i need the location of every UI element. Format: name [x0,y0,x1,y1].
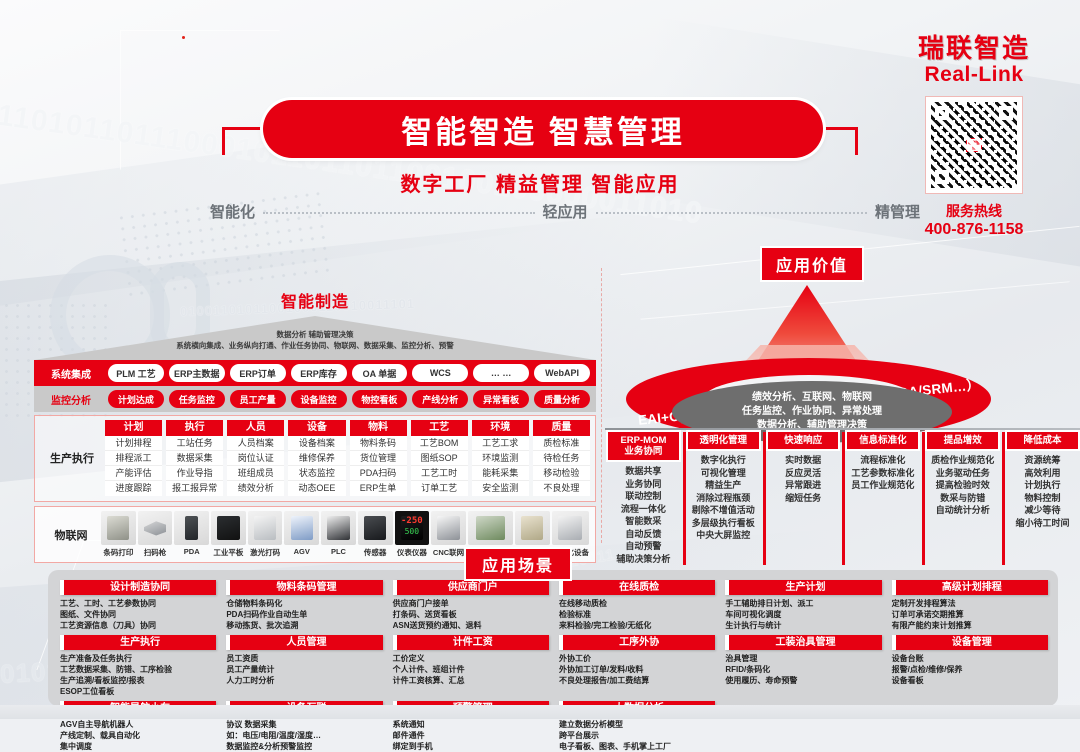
scenario-card-body: 建立数据分析模型跨平台展示电子看板、图表、手机掌上工厂 [559,719,715,752]
iot-device-9: CNC联网 [431,511,466,558]
value-column-head[interactable]: 提品增效 [927,432,998,449]
scenario-card-title: 生产计划 [725,580,881,595]
scenario-card-7[interactable]: 人员管理员工资质员工产量统计人力工时分析 [226,635,382,697]
device-label: 仪表仪器 [397,547,427,558]
value-disc-line: 绩效分析、互联网、物联网 [742,391,882,405]
axis-line-1 [263,212,534,214]
value-disc-lines: 绩效分析、互联网、物联网任务监控、作业协同、异常处理数据分析、辅助管理决策 [742,391,882,433]
value-column-0: ERP-MOM业务协同数据共享业务协同联动控制流程一体化智能数采自动反馈自动预警… [606,432,679,565]
system-chip-5[interactable]: WCS [412,364,468,382]
hero-wing-corner-left [222,127,225,155]
scenario-card-9[interactable]: 工序外协外协工价外协加工订单/发料/收料不良处理报告/加工费结算 [559,635,715,697]
scenario-card-11[interactable]: 设备管理设备台账报警/点检/维修/保养设备看板 [892,635,1048,697]
iot-device-0: 条码打印 [101,511,136,558]
maturity-axis: 智能化 轻应用 精管理 [210,200,920,222]
exec-cell[interactable]: 作业导指 [166,466,223,481]
qr-center-label: 瑞联智造 [967,140,981,150]
scenario-item: RFID/条码化 [725,664,881,675]
scenario-item: 工价定义 [393,653,549,664]
monitoring-chip-6[interactable]: 异常看板 [473,390,529,408]
exec-cell[interactable]: 能耗采集 [472,466,529,481]
value-item: 数采与防错 [927,492,998,505]
scenario-item: 图纸、文件协同 [60,609,216,620]
value-column-body: 质检作业规范化业务驱动任务提高检验时效数采与防错自动统计分析 [927,454,998,517]
scenario-item: 有限产能约束计划推算 [892,620,1048,631]
pyramid-line-1: 数据分析 辅助管理决策 [34,329,596,340]
scenario-item: 建立数据分析模型 [559,719,715,730]
scenario-item: 电子看板、图表、手机掌上工厂 [559,741,715,752]
scenario-item: 检验标准 [559,609,715,620]
scenario-item: 人力工时分析 [226,675,382,686]
system-chip-7[interactable]: WebAPI [534,364,590,382]
scenario-item: 工艺资源信息（刀具）协同 [60,620,216,631]
scenario-item: 个人计件、班组计件 [393,664,549,675]
scenario-card-body: 在线移动质检检验标准来料检验/完工检验/无纸化 [559,598,715,631]
device-label: 条码打印 [103,547,133,558]
device-label: CNC联网 [433,547,464,558]
scenario-item: ASN送货预约通知、退料 [393,620,549,631]
value-column-head[interactable]: ERP-MOM业务协同 [608,432,679,460]
system-chip-2[interactable]: ERP订单 [230,364,286,382]
value-item: 业务驱动任务 [927,467,998,480]
value-column-4: 提品增效质检作业规范化业务驱动任务提高检验时效数采与防错自动统计分析 [922,432,998,565]
scenario-card-body: 外协工价外协加工订单/发料/收料不良处理报告/加工费结算 [559,653,715,686]
device-photo-icon: -250500 [395,511,430,545]
axis-label-left: 智能化 [210,201,255,222]
monitoring-analysis-chips: 计划达成任务监控员工产量设备监控物控看板产线分析异常看板质量分析 [108,390,596,408]
value-column-2: 快速响应实时数据反应灵活异常跟进缩短任务 [763,432,839,565]
exec-cell[interactable]: 不良处理 [533,481,590,496]
value-item: 高效利用 [1007,467,1078,480]
value-item: 实时数据 [768,454,839,467]
value-item: 精益生产 [688,479,759,492]
value-item: 智能数采 [608,515,679,528]
exec-cell[interactable]: 进度跟踪 [105,481,162,496]
scenario-card-1[interactable]: 物料条码管理仓储物料条码化PDA扫码作业自动生单移动拣货、批次追溯 [226,580,382,631]
value-item: 联动控制 [608,490,679,503]
device-label: AGV [294,547,310,556]
scenario-card-title: 计件工资 [393,635,549,650]
monitoring-analysis-label: 监控分析 [34,392,108,407]
value-column-5: 降低成本资源统筹高效利用计划执行物料控制减少等待缩小待工时间 [1002,432,1078,565]
exec-column-head: 环境 [472,420,529,436]
scenario-card-body: 仓储物料条码化PDA扫码作业自动生单移动拣货、批次追溯 [226,598,382,631]
scenario-card-title: 设备管理 [892,635,1048,650]
scenario-item: 绑定到手机 [393,741,549,752]
device-photo-icon [468,511,513,545]
hero-banner: 智能智造 智慧管理 [263,100,823,158]
exec-cell[interactable]: 设备档案 [288,436,345,451]
monitoring-chip-3[interactable]: 设备监控 [291,390,347,408]
exec-cell[interactable]: 工艺工求 [472,436,529,451]
scenario-card-title: 在线质检 [559,580,715,595]
iot-device-6: PLC [321,511,356,558]
scenario-card-body: 协议 数据采集如：电压/电阻/温度/湿度…数据监控&分析预警监控 [226,719,382,752]
scenario-card-body: 治具管理RFID/条码化使用履历、寿命预警 [725,653,881,686]
value-column-body: 数字化执行可视化管理精益生产消除过程瓶颈剔除不增值活动多层级执行看板中央大屏监控 [688,454,759,542]
scenario-card-title: 供应商门户 [393,580,549,595]
exec-column-0: 计划计划排程排程派工产能评估进度跟踪 [105,420,162,496]
exec-column-head: 物料 [350,420,407,436]
application-scenarios-panel: 设计制造协同工艺、工时、工艺参数协同图纸、文件协同工艺资源信息（刀具）协同物料条… [48,570,1058,706]
value-item: 数字化执行 [688,454,759,467]
exec-cell[interactable]: 图纸SOP [411,451,468,466]
scenario-card-body: 定制开发排程算法订单可承诺交期推算有限产能约束计划推算 [892,598,1048,631]
value-item: 提高检验时效 [927,479,998,492]
scenario-item: 供应商门户接单 [393,598,549,609]
exec-cell[interactable]: 质检标准 [533,436,590,451]
application-value-title: 应用价值 [762,248,862,280]
scenario-item: 计件工资核算、汇总 [393,675,549,686]
system-integration-label: 系统集成 [34,366,108,381]
scenario-card-0[interactable]: 设计制造协同工艺、工时、工艺参数协同图纸、文件协同工艺资源信息（刀具）协同 [60,580,216,631]
exec-column-7: 质量质检标准待检任务移动检验不良处理 [533,420,590,496]
production-execution-label: 生产执行 [39,420,105,496]
value-column-head[interactable]: 降低成本 [1007,432,1078,449]
value-column-3: 信息标准化流程标准化工艺参数标准化员工作业规范化 [842,432,918,565]
exec-cell[interactable]: 数据采集 [166,451,223,466]
scenario-item: 生产追溯/看板监控/报表 [60,675,216,686]
scenario-item: ESOP工位看板 [60,686,216,697]
device-photo-icon [552,511,590,545]
system-chip-6[interactable]: … … [473,364,529,382]
scenario-item: 设备看板 [892,675,1048,686]
monitoring-chip-2[interactable]: 员工产量 [230,390,286,408]
scenario-card-6[interactable]: 生产执行生产准备及任务执行工艺数据采集、防错、工序检验生产追溯/看板监控/报表E… [60,635,216,697]
scenario-item: 邮件通件 [393,730,549,741]
value-separator [605,428,1080,430]
device-label: 工业平板 [213,547,243,558]
scenario-card-title: 物料条码管理 [226,580,382,595]
brand-name-en: Real-Link [882,63,1066,87]
exec-cell[interactable]: 移动检验 [533,466,590,481]
exec-cell[interactable]: 货位管理 [350,451,407,466]
exec-column-3: 设备设备档案维修保养状态监控动态OEE [288,420,345,496]
value-column-head-line: ERP-MOM [609,435,678,446]
exec-column-5: 工艺工艺BOM图纸SOP工艺工时订单工艺 [411,420,468,496]
value-item: 自动统计分析 [927,504,998,517]
exec-column-1: 执行工站任务数据采集作业导指报工报异常 [166,420,223,496]
value-item: 剔除不增值活动 [688,504,759,517]
device-label: 传感器 [364,547,387,558]
monitoring-chip-1[interactable]: 任务监控 [169,390,225,408]
scenario-item: AGV自主导航机器人 [60,719,216,730]
exec-cell[interactable]: 工艺工时 [411,466,468,481]
scenario-item: 打条码、送货看板 [393,609,549,620]
scenario-card-2[interactable]: 供应商门户供应商门户接单打条码、送货看板ASN送货预约通知、退料 [393,580,549,631]
scenario-item: 系统通知 [393,719,549,730]
production-execution-columns: 计划计划排程排程派工产能评估进度跟踪执行工站任务数据采集作业导指报工报异常人员人… [105,420,590,496]
scenario-item: 车间可视化调度 [725,609,881,620]
hero-wing-corner-right [855,127,858,155]
value-item: 质检作业规范化 [927,454,998,467]
system-chip-1[interactable]: ERP主数据 [169,364,225,382]
scenario-card-body: 系统通知邮件通件绑定到手机 [393,719,549,752]
iot-device-4: 激光打码 [248,511,283,558]
scenario-card-body: 设备台账报警/点检/维修/保养设备看板 [892,653,1048,686]
scenario-item: 不良处理报告/加工费结算 [559,675,715,686]
scenario-card-title: 生产执行 [60,635,216,650]
axis-label-mid: 轻应用 [543,201,588,222]
exec-column-6: 环境工艺工求环境监测能耗采集安全监测 [472,420,529,496]
device-photo-icon [515,511,550,545]
value-item: 可视化管理 [688,467,759,480]
value-column-1: 透明化管理数字化执行可视化管理精益生产消除过程瓶颈剔除不增值活动多层级执行看板中… [683,432,759,565]
value-disc-line: 任务监控、作业协同、异常处理 [742,405,882,419]
system-chip-3[interactable]: ERP库存 [291,364,347,382]
value-item: 辅助决策分析 [608,553,679,566]
bottom-strip [0,705,1080,719]
exec-cell[interactable]: 环境监测 [472,451,529,466]
value-item: 消除过程瓶颈 [688,492,759,505]
scenario-card-title: 工装治具管理 [725,635,881,650]
exec-cell[interactable]: 班组成员 [227,466,284,481]
scenario-item: 外协加工订单/发料/收料 [559,664,715,675]
device-photo-icon [284,511,319,545]
scenario-item: 外协工价 [559,653,715,664]
scenario-item: 集中调度 [60,741,216,752]
exec-cell[interactable]: 计划排程 [105,436,162,451]
scenario-card-body: 员工资质员工产量统计人力工时分析 [226,653,382,686]
exec-column-head: 执行 [166,420,223,436]
scenario-item: 治具管理 [725,653,881,664]
device-label: PLC [331,547,346,556]
pyramid-line-2: 系统横向集成、业务纵向打通、作业任务协同、物联网、数据采集、监控分析、预警 [34,340,596,351]
scenario-item: 员工产量统计 [226,664,382,675]
value-column-body: 资源统筹高效利用计划执行物料控制减少等待缩小待工时间 [1007,454,1078,529]
scenario-item: 定制开发排程算法 [892,598,1048,609]
scenario-card-title: 设计制造协同 [60,580,216,595]
value-item: 自动预警 [608,540,679,553]
value-item: 资源统筹 [1007,454,1078,467]
exec-cell[interactable]: 产能评估 [105,466,162,481]
scenario-card-body: 手工辅助排日计划、派工车间可视化调度生计执行与统计 [725,598,881,631]
meter-bottom-reading: 500 [395,527,430,536]
scenario-card-title: 高级计划排程 [892,580,1048,595]
value-column-head[interactable]: 透明化管理 [688,432,759,449]
value-column-head-line: 信息标准化 [848,435,917,446]
scenario-card-5[interactable]: 高级计划排程定制开发排程算法订单可承诺交期推算有限产能约束计划推算 [892,580,1048,631]
value-item: 缩短任务 [768,492,839,505]
value-item: 流程一体化 [608,503,679,516]
device-label: 扫码枪 [144,547,167,558]
exec-cell[interactable]: 工艺BOM [411,436,468,451]
exec-cell[interactable]: 安全监测 [472,481,529,496]
value-item: 员工作业规范化 [847,479,918,492]
system-chip-4[interactable]: OA 单据 [352,364,408,382]
exec-cell[interactable]: 物料条码 [350,436,407,451]
system-integration-chips: PLM 工艺ERP主数据ERP订单ERP库存OA 单据WCS… …WebAPI [108,364,596,382]
scenario-item: 设备台账 [892,653,1048,664]
monitoring-chip-5[interactable]: 产线分析 [412,390,468,408]
hotline-number[interactable]: 400-876-1158 [882,221,1066,239]
scenario-card-body: 供应商门户接单打条码、送货看板ASN送货预约通知、退料 [393,598,549,631]
value-item: 减少等待 [1007,504,1078,517]
exec-cell[interactable]: 人员档案 [227,436,284,451]
value-column-head-line: 业务协同 [609,446,678,457]
pyramid-graphic: 数据分析 辅助管理决策 系统横向集成、业务纵向打通、作业任务协同、物联网、数据采… [34,316,596,360]
iot-device-2: PDA [174,511,209,558]
device-photo-icon [174,511,209,545]
value-columns: ERP-MOM业务协同数据共享业务协同联动控制流程一体化智能数采自动反馈自动预警… [606,432,1078,565]
exec-cell[interactable]: 维修保养 [288,451,345,466]
scenario-item: 报警/点检/维修/保养 [892,664,1048,675]
scenario-card-title: 人员管理 [226,635,382,650]
device-photo-icon [248,511,283,545]
production-execution-matrix: 生产执行 计划计划排程排程派工产能评估进度跟踪执行工站任务数据采集作业导指报工报… [34,415,596,502]
smart-manufacturing-title: 智能制造 [34,288,596,312]
exec-cell[interactable]: 报工报异常 [166,481,223,496]
device-label: PDA [184,547,200,556]
value-column-head-line: 透明化管理 [689,435,758,446]
value-item: 异常跟进 [768,479,839,492]
scenario-item: 工艺数据采集、防错、工序检验 [60,664,216,675]
qr-code[interactable]: 瑞联智造 [925,96,1023,194]
value-item: 流程标准化 [847,454,918,467]
value-column-body: 实时数据反应灵活异常跟进缩短任务 [768,454,839,504]
scenario-item: 产线定制、载具自动化 [60,730,216,741]
monitoring-chip-4[interactable]: 物控看板 [352,390,408,408]
value-item: 自动反馈 [608,528,679,541]
brand-name-cn: 瑞联智造 [882,28,1066,65]
exec-column-head: 工艺 [411,420,468,436]
iot-device-8: -250500仪表仪器 [395,511,430,558]
iot-label: 物联网 [41,527,101,543]
device-photo-icon [138,511,173,545]
exec-cell[interactable]: 状态监控 [288,466,345,481]
exec-cell[interactable]: 排程派工 [105,451,162,466]
system-integration-row: 系统集成 PLM 工艺ERP主数据ERP订单ERP库存OA 单据WCS… …We… [34,360,596,386]
exec-column-2: 人员人员档案岗位认证班组成员绩效分析 [227,420,284,496]
value-column-head-line: 降低成本 [1008,435,1077,446]
iot-device-1: 扫码枪 [138,511,173,558]
scenario-item: PDA扫码作业自动生单 [226,609,382,620]
exec-column-head: 质量 [533,420,590,436]
scenario-item: 订单可承诺交期推算 [892,609,1048,620]
exec-column-head: 计划 [105,420,162,436]
exec-column-head: 设备 [288,420,345,436]
exec-cell[interactable]: 订单工艺 [411,481,468,496]
value-column-head-line: 快速响应 [769,435,838,446]
value-item: 物料控制 [1007,492,1078,505]
scenario-card-4[interactable]: 生产计划手工辅助排日计划、派工车间可视化调度生计执行与统计 [725,580,881,631]
exec-cell[interactable]: 绩效分析 [227,481,284,496]
smart-manufacturing-panel: 智能制造 数据分析 辅助管理决策 系统横向集成、业务纵向打通、作业任务协同、物联… [34,288,596,563]
monitoring-chip-7[interactable]: 质量分析 [534,390,590,408]
exec-column-head: 人员 [227,420,284,436]
scenario-card-body: 工艺、工时、工艺参数协同图纸、文件协同工艺资源信息（刀具）协同 [60,598,216,631]
scenario-item: 如：电压/电阻/温度/湿度… [226,730,382,741]
device-photo-icon [211,511,246,545]
iot-device-7: 传感器 [358,511,393,558]
monitoring-analysis-row: 监控分析 计划达成任务监控员工产量设备监控物控看板产线分析异常看板质量分析 [34,386,596,412]
axis-line-2 [596,212,867,214]
scenario-item: 协议 数据采集 [226,719,382,730]
value-column-head[interactable]: 快速响应 [768,432,839,449]
value-item: 工艺参数标准化 [847,467,918,480]
value-item: 多层级执行看板 [688,517,759,530]
value-item: 业务协同 [608,478,679,491]
value-column-body: 流程标准化工艺参数标准化员工作业规范化 [847,454,918,492]
value-item: 中央大屏监控 [688,529,759,542]
iot-device-5: AGV [284,511,319,558]
scenario-item: 手工辅助排日计划、派工 [725,598,881,609]
iot-device-3: 工业平板 [211,511,246,558]
scenario-item: 来料检验/完工检验/无纸化 [559,620,715,631]
value-item: 计划执行 [1007,479,1078,492]
scenario-card-body: 生产准备及任务执行工艺数据采集、防错、工序检验生产追溯/看板监控/报表ESOP工… [60,653,216,697]
device-photo-icon [431,511,466,545]
value-column-head[interactable]: 信息标准化 [847,432,918,449]
scenario-item: 员工资质 [226,653,382,664]
exec-cell[interactable]: 岗位认证 [227,451,284,466]
exec-cell[interactable]: 工站任务 [166,436,223,451]
application-scenarios-title: 应用场景 [466,549,570,579]
scenario-item: 工艺、工时、工艺参数协同 [60,598,216,609]
device-photo-icon [101,511,136,545]
device-photo-icon [321,511,356,545]
scenario-card-3[interactable]: 在线质检在线移动质检检验标准来料检验/完工检验/无纸化 [559,580,715,631]
value-item: 缩小待工时间 [1007,517,1078,530]
hero-title: 智能智造 智慧管理 [401,107,685,152]
value-item: 反应灵活 [768,467,839,480]
device-photo-icon [358,511,393,545]
value-column-head-line: 提品增效 [928,435,997,446]
scenario-card-body: 工价定义个人计件、班组计件计件工资核算、汇总 [393,653,549,686]
exec-cell[interactable]: 动态OEE [288,481,345,496]
meter-top-reading: -250 [395,516,430,526]
scenario-item: 使用履历、寿命预警 [725,675,881,686]
monitoring-chip-0[interactable]: 计划达成 [108,390,164,408]
scenario-card-body: AGV自主导航机器人产线定制、载具自动化集中调度 [60,719,216,752]
value-item: 数据共享 [608,465,679,478]
scenario-card-8[interactable]: 计件工资工价定义个人计件、班组计件计件工资核算、汇总 [393,635,549,697]
scenario-item: 仓储物料条码化 [226,598,382,609]
device-label: 激光打码 [250,547,280,558]
exec-cell[interactable]: PDA扫码 [350,466,407,481]
scenario-item: 在线移动质检 [559,598,715,609]
exec-cell[interactable]: 待检任务 [533,451,590,466]
exec-column-4: 物料物料条码货位管理PDA扫码ERP生单 [350,420,407,496]
brand-block: 瑞联智造 Real-Link 瑞联智造 服务热线 400-876-1158 [882,28,1066,239]
scenario-item: 生产准备及任务执行 [60,653,216,664]
scenario-item: 生计执行与统计 [725,620,881,631]
scenario-card-title: 工序外协 [559,635,715,650]
value-column-body: 数据共享业务协同联动控制流程一体化智能数采自动反馈自动预警辅助决策分析 [608,465,679,565]
value-disc-line: 数据分析、辅助管理决策 [742,419,882,433]
scenario-item: 数据监控&分析预警监控 [226,741,382,752]
exec-cell[interactable]: ERP生单 [350,481,407,496]
application-scenarios-grid: 设计制造协同工艺、工时、工艺参数协同图纸、文件协同工艺资源信息（刀具）协同物料条… [60,580,1048,752]
hotline-label: 服务热线 [882,201,1066,221]
scenario-card-10[interactable]: 工装治具管理治具管理RFID/条码化使用履历、寿命预警 [725,635,881,697]
scenario-item: 移动拣货、批次追溯 [226,620,382,631]
scenario-item: 跨平台展示 [559,730,715,741]
system-chip-0[interactable]: PLM 工艺 [108,364,164,382]
